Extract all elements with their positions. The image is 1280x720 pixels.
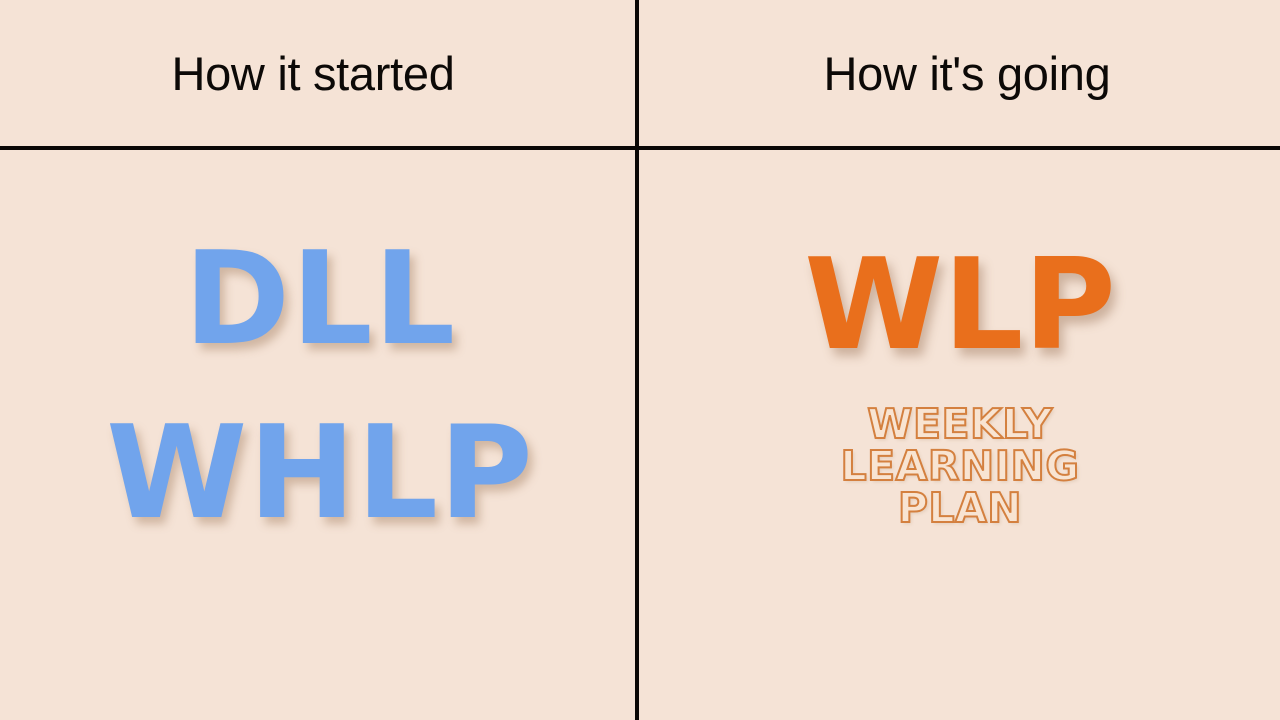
orange-text-stack: WLP WEEKLY LEARNING PLAN [640,242,1280,529]
right-expansion-line-2: LEARNING [640,446,1280,488]
vertical-divider [635,0,639,720]
header-cell-left: How it started [0,0,640,146]
header-row: How it started How it's going [0,0,1280,146]
body-row: DLL WHLP WLP WEEKLY LEARNING PLAN [0,150,1280,720]
panel-left: DLL WHLP [0,150,640,720]
right-expansion-line-3: PLAN [640,488,1280,530]
blue-text-stack: DLL WHLP [0,236,640,538]
header-right-label: How it's going [824,50,1111,97]
right-acronym-text: WLP [640,242,1280,368]
meme-canvas: How it started How it's going DLL WHLP W… [0,0,1280,720]
left-expansion-text: WHLP [0,410,640,538]
header-left-label: How it started [171,50,454,97]
panel-right: WLP WEEKLY LEARNING PLAN [640,150,1280,720]
header-cell-right: How it's going [640,0,1280,146]
right-expansion-block: WEEKLY LEARNING PLAN [640,404,1280,529]
left-acronym-text: DLL [0,236,640,364]
horizontal-divider [0,146,1280,150]
right-expansion-line-1: WEEKLY [640,404,1280,446]
